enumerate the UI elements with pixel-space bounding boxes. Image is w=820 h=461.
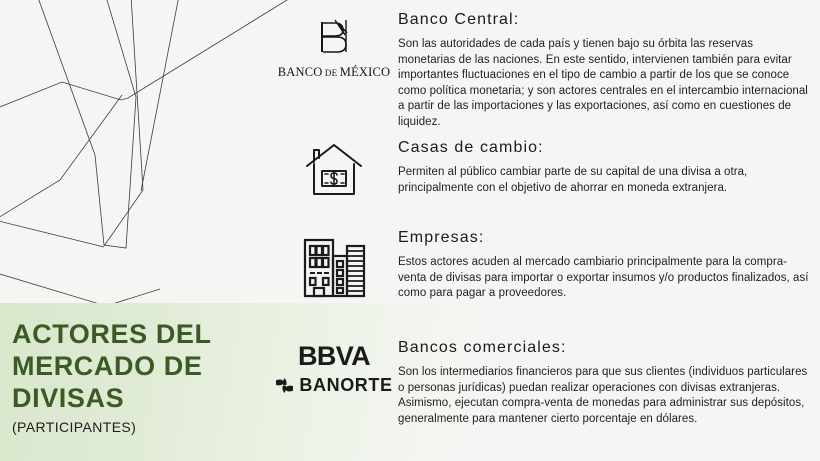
banco-de-mexico-monogram-icon	[313, 14, 355, 58]
list-item: BBVA BANORTE	[270, 338, 820, 427]
entry-heading: Bancos comerciales:	[398, 338, 812, 358]
page-title-line-1: ACTORES DEL	[12, 318, 282, 350]
entry-body: Estos actores acuden al mercado cambiari…	[398, 255, 812, 302]
entry-body: Son las autoridades de cada país y tiene…	[398, 37, 812, 131]
list-item: BANCO DE MÉXICO Banco Central: Son las a…	[270, 10, 820, 131]
entry-heading: Banco Central:	[398, 10, 812, 30]
page-title: ACTORES DEL MERCADO DE DIVISAS (PARTICIP…	[12, 318, 282, 435]
banorte-wordmark: BANORTE	[299, 376, 392, 394]
page-title-line-2: MERCADO DE	[12, 350, 282, 382]
list-item: Casas de cambio: Permiten al público cam…	[270, 138, 820, 198]
entry-text-block: Casas de cambio: Permiten al público cam…	[398, 138, 820, 196]
entry-body: Permiten al público cambiar parte de su …	[398, 165, 812, 196]
entry-text-block: Banco Central: Son las autoridades de ca…	[398, 10, 820, 131]
commercial-banks-logos: BBVA BANORTE	[270, 338, 398, 394]
page-subtitle: (PARTICIPANTES)	[12, 419, 282, 435]
office-buildings-icon	[301, 232, 367, 300]
exchange-house-icon	[303, 142, 365, 198]
entry-heading: Empresas:	[398, 228, 812, 248]
entry-body: Son los intermediarios financieros para …	[398, 365, 812, 427]
entry-text-block: Bancos comerciales: Son los intermediari…	[398, 338, 820, 427]
exchange-house-logo	[270, 138, 398, 198]
entries-list: BANCO DE MÉXICO Banco Central: Son las a…	[270, 0, 820, 461]
office-buildings-logo	[270, 228, 398, 300]
entry-heading: Casas de cambio:	[398, 138, 812, 158]
list-item: Empresas: Estos actores acuden al mercad…	[270, 228, 820, 302]
banco-de-mexico-logo: BANCO DE MÉXICO	[270, 10, 398, 80]
banco-de-mexico-wordmark: BANCO DE MÉXICO	[278, 65, 391, 80]
slide-canvas: ACTORES DEL MERCADO DE DIVISAS (PARTICIP…	[0, 0, 820, 461]
banorte-logo: BANORTE	[275, 376, 392, 394]
bbva-logo: BBVA	[275, 342, 392, 370]
page-title-line-3: DIVISAS	[12, 382, 282, 414]
background-geometric-lines	[0, 0, 300, 320]
entry-text-block: Empresas: Estos actores acuden al mercad…	[398, 228, 820, 302]
banorte-mark-icon	[275, 377, 294, 394]
